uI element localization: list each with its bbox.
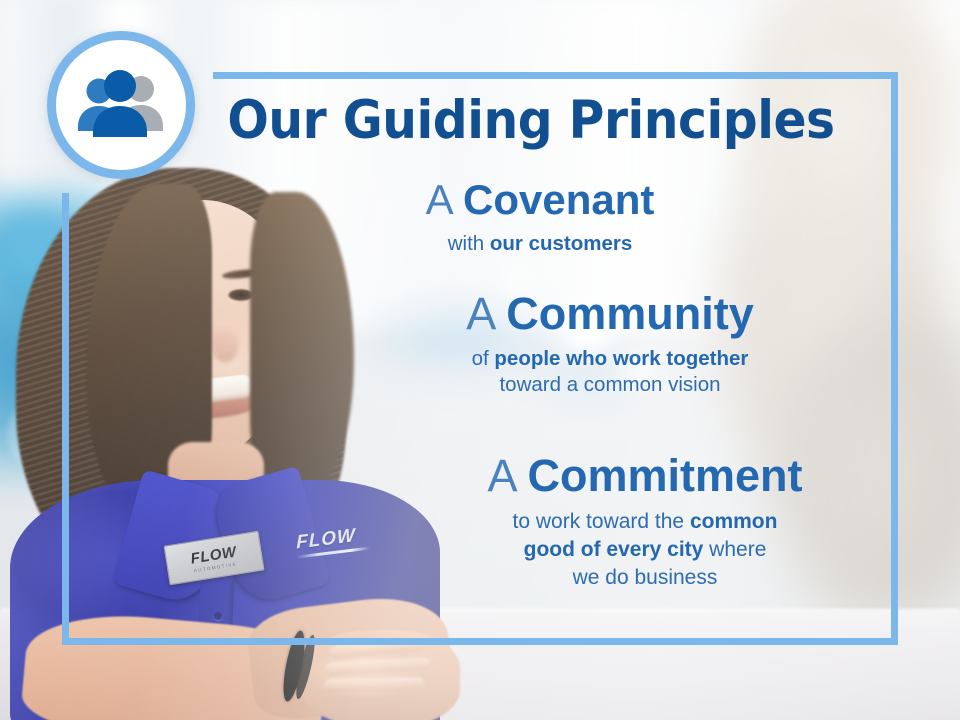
emphasis-text: good of every city	[524, 538, 704, 561]
plain-text: toward a common vision	[499, 373, 720, 396]
principle-covenant: A Covenant with our customers	[310, 178, 770, 257]
principle-subtext-line: we do business	[400, 564, 890, 592]
principle-heading: A Covenant	[310, 178, 770, 223]
plain-text: to work toward the	[513, 510, 690, 533]
guiding-principles-banner: FLOW FLOW AUTOMOTIVE	[0, 0, 960, 720]
principle-article: A	[466, 288, 506, 339]
principle-subtext-line: of people who work together	[360, 346, 860, 372]
principle-commitment: A Commitment to work toward the commongo…	[400, 452, 890, 591]
banner-content: Our Guiding Principles A Covenant with o…	[200, 72, 890, 645]
plain-text: with	[448, 232, 490, 255]
emphasis-text: our customers	[490, 232, 632, 255]
principle-heading: A Commitment	[400, 452, 890, 500]
principle-article: A	[426, 176, 463, 223]
principle-keyword: Covenant	[463, 176, 654, 223]
principle-subtext: to work toward the commongood of every c…	[400, 508, 890, 592]
principle-heading: A Community	[360, 290, 860, 338]
emphasis-text: common	[690, 510, 778, 533]
people-group-badge	[47, 31, 195, 179]
emphasis-text: people who work together	[494, 347, 748, 370]
principle-subtext: with our customers	[310, 231, 770, 257]
people-group-icon	[71, 69, 171, 141]
principle-subtext-line: good of every city where	[400, 536, 890, 564]
finger	[324, 677, 424, 692]
plain-text: of	[472, 347, 495, 370]
plain-text: we do business	[573, 566, 718, 589]
principle-article: A	[487, 450, 527, 501]
principle-subtext-line: with our customers	[310, 231, 770, 257]
principle-keyword: Community	[506, 288, 754, 339]
principle-subtext-line: to work toward the common	[400, 508, 890, 536]
principle-community: A Community of people who work togethert…	[360, 290, 860, 398]
principle-keyword: Commitment	[528, 450, 803, 501]
principle-subtext: of people who work togethertoward a comm…	[360, 346, 860, 398]
principle-subtext-line: toward a common vision	[360, 372, 860, 398]
plain-text: where	[703, 538, 766, 561]
page-title: Our Guiding Principles	[226, 94, 835, 147]
